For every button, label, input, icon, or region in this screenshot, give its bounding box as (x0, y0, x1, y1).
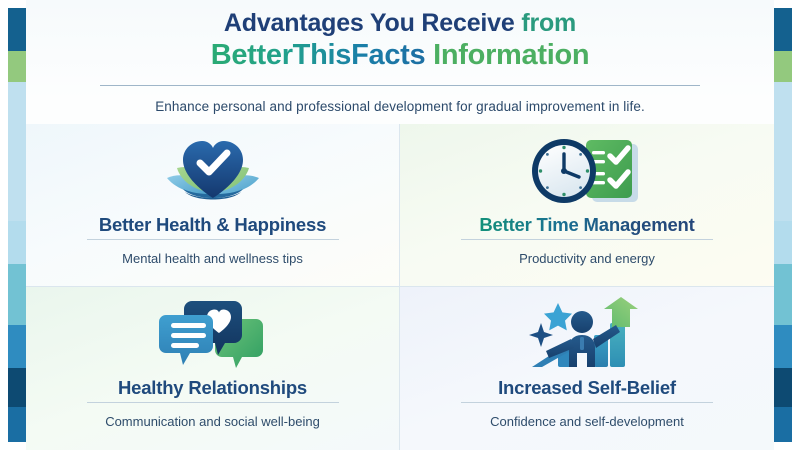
title-brand-text: BetterThisFacts (211, 39, 426, 71)
left-edge-color-bar (8, 8, 26, 442)
benefit-card-health[interactable]: Better Health & Happiness Mental health … (26, 124, 400, 287)
page-title-line-1: Advantages You Receive from (26, 8, 774, 38)
title-main-text: Advantages You Receive (224, 9, 515, 37)
edge-segment (774, 264, 792, 325)
edge-segment (774, 325, 792, 368)
benefit-card-relationships[interactable]: Healthy Relationships Communication and … (26, 287, 400, 450)
speech-bubbles-heart-icon (150, 295, 276, 373)
right-edge-color-bar (774, 8, 792, 442)
card-title-relationships: Healthy Relationships (118, 377, 307, 399)
edge-segment (774, 51, 792, 81)
card-title-health: Better Health & Happiness (99, 214, 326, 236)
card-subtitle-self-belief: Confidence and self-development (490, 414, 684, 429)
person-arrow-growth-icon (524, 295, 650, 373)
edge-segment (774, 221, 792, 264)
card-title-underline (461, 402, 713, 403)
header-subtitle: Enhance personal and professional develo… (26, 99, 774, 114)
edge-segment (8, 368, 26, 407)
header: Advantages You Receive from BetterThisFa… (26, 0, 774, 124)
card-title-underline (87, 402, 339, 403)
infographic-canvas: Advantages You Receive from BetterThisFa… (26, 0, 774, 450)
page-title-line-2: BetterThisFacts Information (26, 37, 774, 73)
edge-segment (774, 8, 792, 51)
heart-check-lotus-icon (153, 132, 273, 210)
edge-segment (8, 264, 26, 325)
title-from-text: from (521, 9, 576, 37)
card-title-underline (87, 239, 339, 240)
edge-segment (774, 82, 792, 221)
edge-segment (8, 407, 26, 442)
header-divider (100, 85, 700, 86)
card-subtitle-health: Mental health and wellness tips (122, 251, 303, 266)
title-information-text: Information (433, 39, 589, 71)
benefit-card-time[interactable]: Better Time Management Productivity and … (400, 124, 774, 287)
edge-segment (774, 407, 792, 442)
edge-segment (8, 51, 26, 81)
edge-segment (8, 8, 26, 51)
card-title-time: Better Time Management (479, 214, 694, 236)
edge-segment (8, 82, 26, 221)
edge-segment (8, 325, 26, 368)
card-title-self-belief: Increased Self-Belief (498, 377, 676, 399)
benefits-grid: Better Health & Happiness Mental health … (26, 124, 774, 450)
clock-checklist-icon (522, 132, 652, 210)
edge-segment (774, 368, 792, 407)
benefit-card-self-belief[interactable]: Increased Self-Belief Confidence and sel… (400, 287, 774, 450)
card-subtitle-time: Productivity and energy (519, 251, 655, 266)
card-subtitle-relationships: Communication and social well-being (105, 414, 320, 429)
card-title-underline (461, 239, 713, 240)
edge-segment (8, 221, 26, 264)
